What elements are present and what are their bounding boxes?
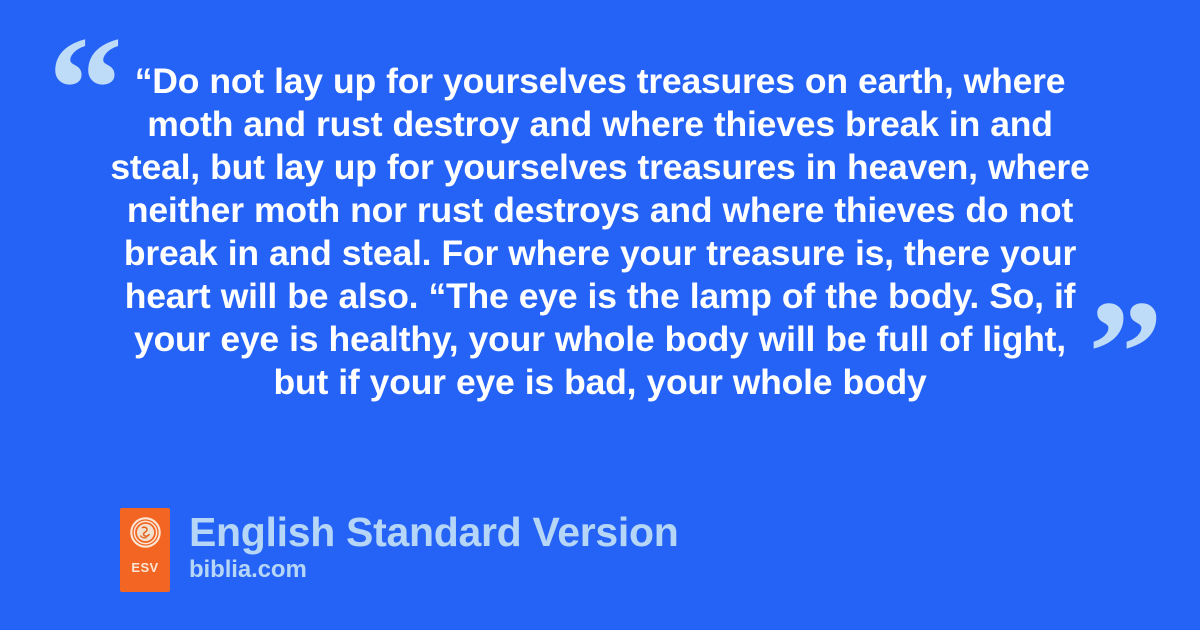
quote-card: “ “Do not lay up for yourselves treasure… [0,0,1200,630]
close-quote-icon: ” [1088,278,1163,428]
quote-text: “Do not lay up for yourselves treasures … [110,60,1090,404]
attribution-text: English Standard Version biblia.com [189,508,678,584]
esv-seal-icon [130,517,161,548]
esv-abbreviation: ESV [131,561,158,574]
site-url: biblia.com [189,556,678,584]
quote-block: “Do not lay up for yourselves treasures … [110,60,1090,404]
attribution: ESV English Standard Version biblia.com [120,508,678,592]
esv-logo: ESV [120,508,170,592]
bible-version-name: English Standard Version [189,510,678,555]
